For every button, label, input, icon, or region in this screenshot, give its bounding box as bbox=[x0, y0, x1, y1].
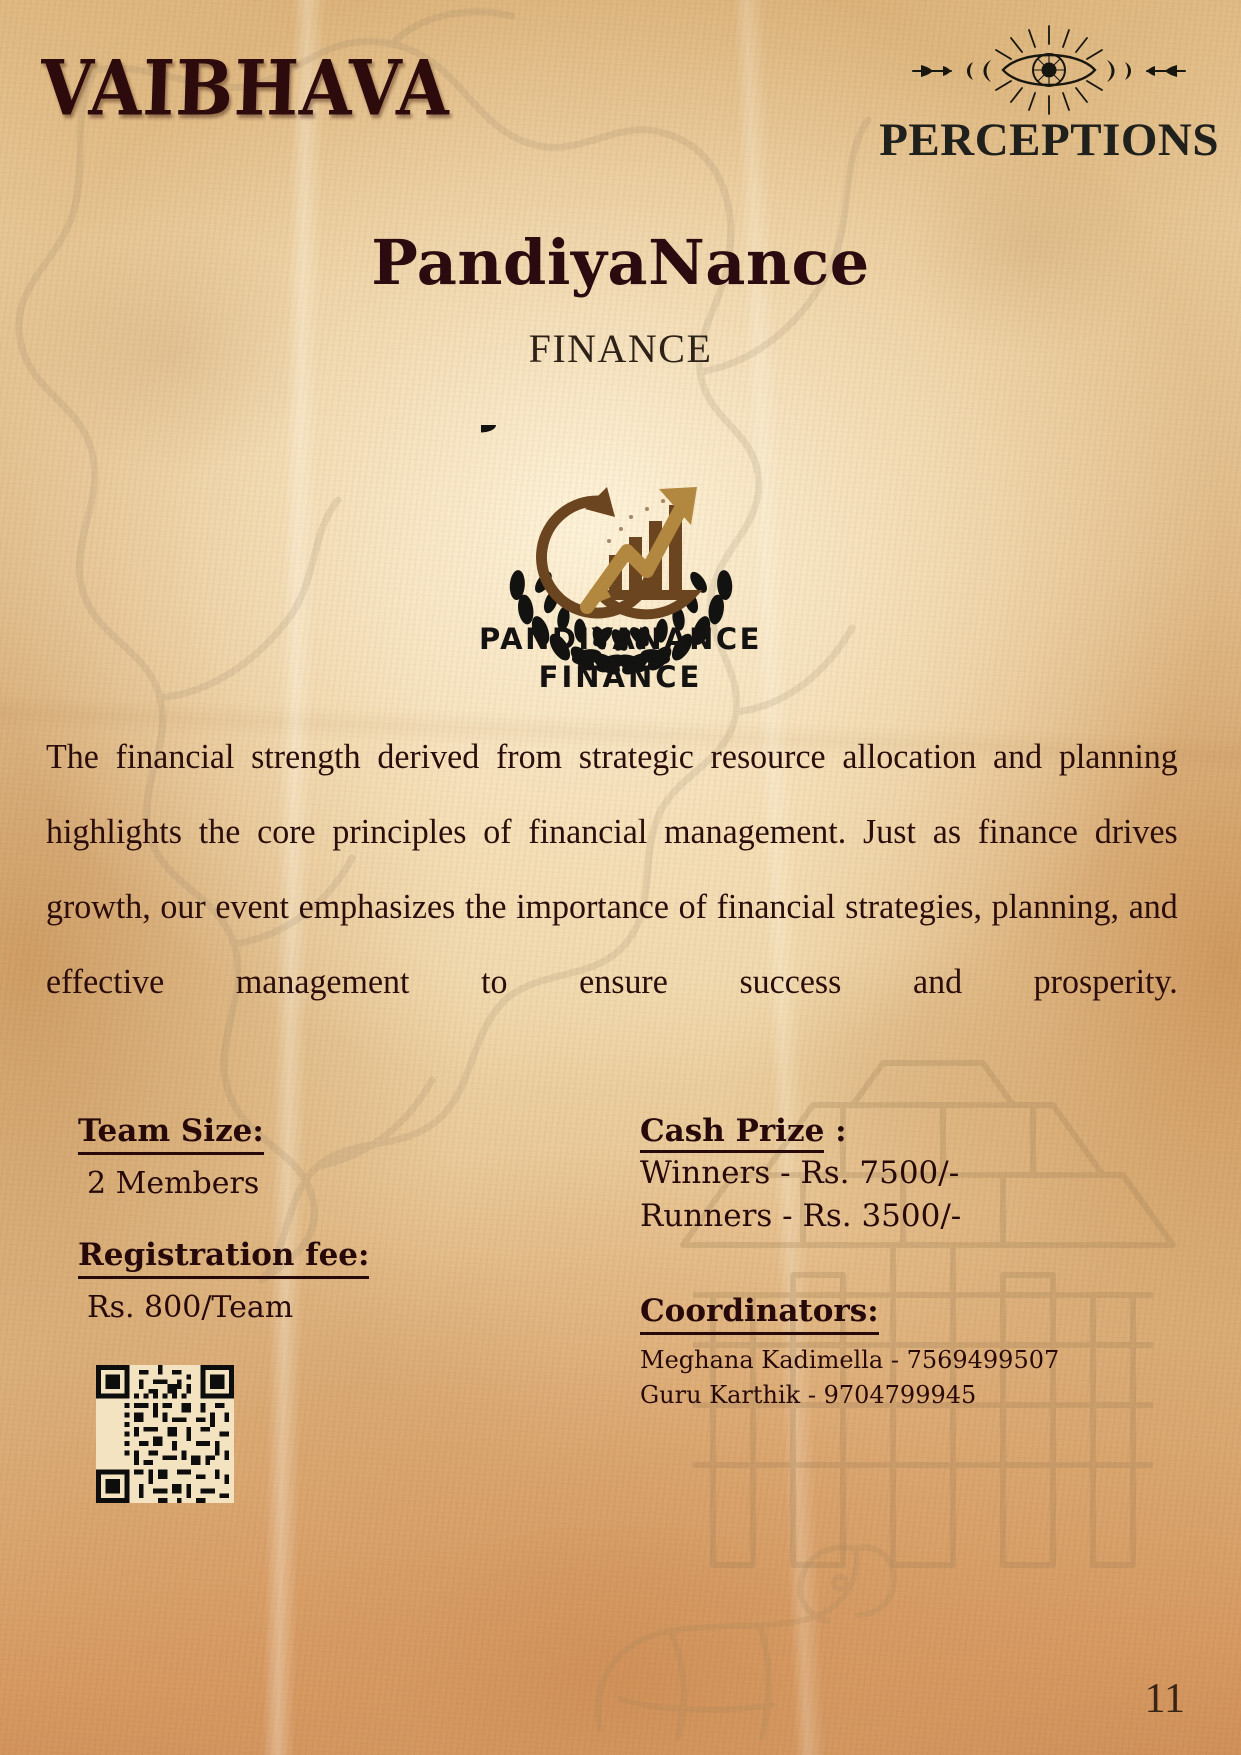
department-logo-label: PERCEPTIONS bbox=[879, 117, 1219, 164]
emblem-brand-line-1: PANDIYANANCE bbox=[0, 622, 1241, 656]
cash-prize-colon: : bbox=[824, 1113, 846, 1149]
qr-code-icon[interactable] bbox=[96, 1365, 234, 1503]
mystic-eye-icon bbox=[899, 24, 1199, 116]
team-size-label: Team Size: bbox=[78, 1113, 264, 1155]
event-description: The financial strength derived from stra… bbox=[46, 720, 1178, 1095]
event-category: FINANCE bbox=[0, 325, 1241, 372]
prize-winners: Winners - Rs. 7500/- bbox=[640, 1152, 1160, 1195]
coordinators-label: Coordinators: bbox=[640, 1293, 879, 1335]
fest-logo-vaibhava: VAIBHAVA bbox=[39, 44, 452, 134]
coordinator-2: Guru Karthik - 9704799945 bbox=[640, 1378, 1160, 1413]
registration-fee-value: Rs. 800/Team bbox=[78, 1288, 598, 1328]
cash-prize-label: Cash Prize : bbox=[640, 1113, 847, 1152]
poster-header: VAIBHAVA bbox=[0, 0, 1241, 190]
poster-page: VAIBHAVA bbox=[0, 0, 1241, 1755]
event-title: PandiyaNance bbox=[0, 226, 1241, 299]
department-logo: PERCEPTIONS bbox=[879, 24, 1219, 164]
nandi-bull-watermark bbox=[560, 1499, 920, 1749]
page-number: 11 bbox=[1145, 1675, 1185, 1723]
team-size-value: 2 Members bbox=[78, 1164, 598, 1204]
details-left-column: Team Size: 2 Members Registration fee: R… bbox=[78, 1113, 598, 1328]
emblem-brand-line-2: FINANCE bbox=[0, 660, 1241, 694]
registration-fee-label: Registration fee: bbox=[78, 1237, 369, 1279]
coordinator-1: Meghana Kadimella - 7569499507 bbox=[640, 1343, 1160, 1378]
details-right-column: Cash Prize : Winners - Rs. 7500/- Runner… bbox=[640, 1113, 1160, 1413]
prize-runners: Runners - Rs. 3500/- bbox=[640, 1195, 1160, 1238]
